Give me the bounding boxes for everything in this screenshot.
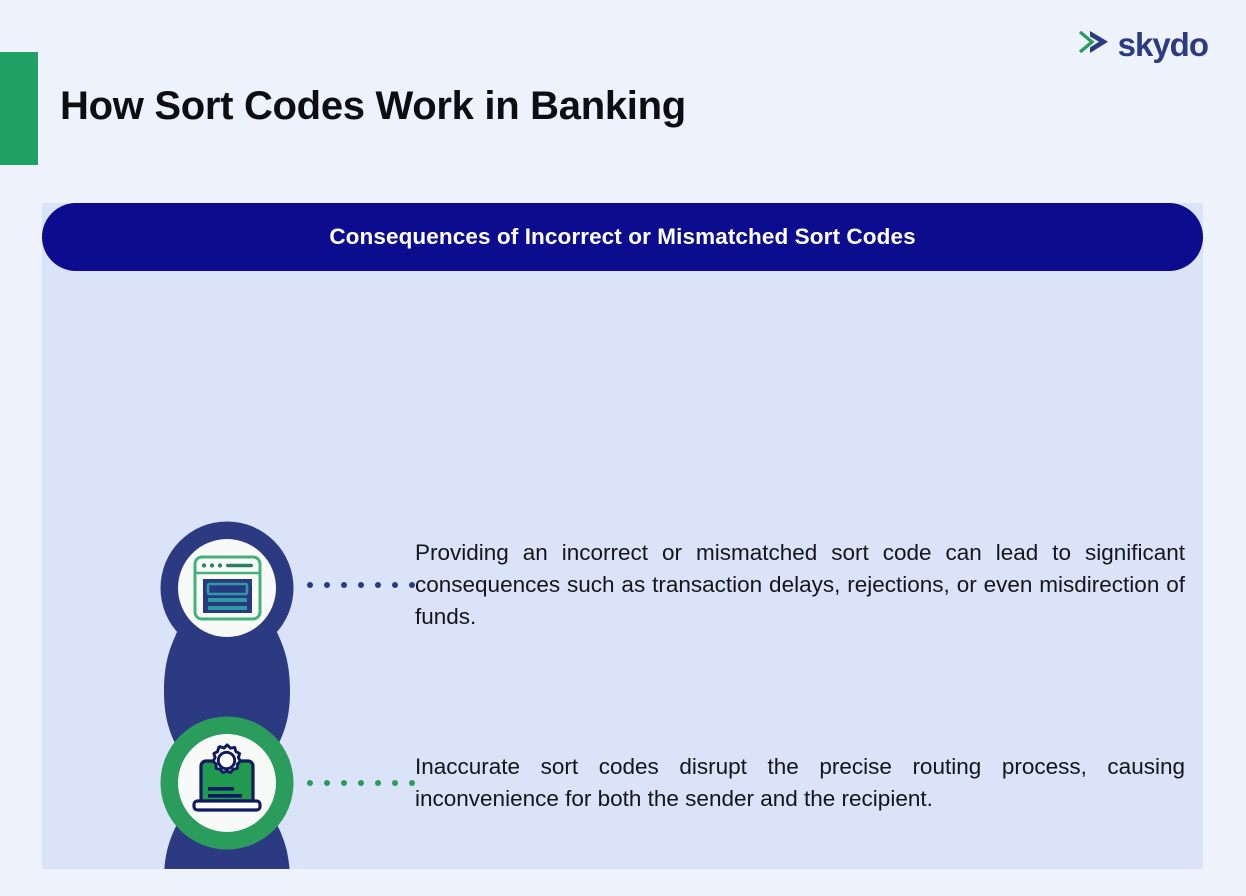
dot <box>324 582 330 588</box>
double-chevron-icon <box>1078 28 1112 61</box>
brand-name: skydo <box>1118 28 1208 61</box>
dot <box>341 780 347 786</box>
dot <box>375 582 381 588</box>
step-row: Providing an incorrect or mismatched sor… <box>297 525 1203 645</box>
dot <box>324 780 330 786</box>
dot <box>375 780 381 786</box>
dotted-connector-2 <box>297 780 415 786</box>
step-1-text: Providing an incorrect or mismatched sor… <box>415 537 1203 633</box>
dot <box>307 582 313 588</box>
step-2-text: Inaccurate sort codes disrupt the precis… <box>415 751 1203 815</box>
consequences-card: Consequences of Incorrect or Mismatched … <box>42 203 1203 869</box>
browser-form-icon <box>195 557 260 619</box>
page-title: How Sort Codes Work in Banking <box>60 84 686 129</box>
title-accent-bar <box>0 52 38 165</box>
dot <box>358 582 364 588</box>
dot <box>392 582 398 588</box>
dot <box>307 780 313 786</box>
card-header-banner: Consequences of Incorrect or Mismatched … <box>42 203 1203 271</box>
card-header-title: Consequences of Incorrect or Mismatched … <box>329 224 915 250</box>
brand-logo: skydo <box>1078 28 1208 61</box>
dotted-connector-1 <box>297 582 415 588</box>
dot <box>341 582 347 588</box>
step-row: Inaccurate sort codes disrupt the precis… <box>297 733 1203 833</box>
dot <box>358 780 364 786</box>
step-chain-graphic: $ <box>42 271 322 869</box>
dot <box>392 780 398 786</box>
